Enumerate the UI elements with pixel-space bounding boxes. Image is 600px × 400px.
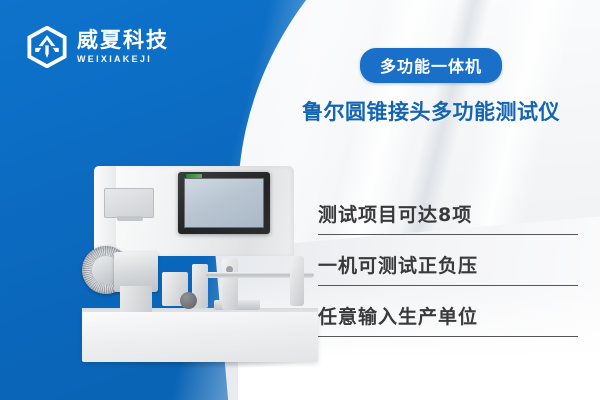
headline-badge: 多功能一体机	[360, 48, 502, 83]
access-panel-plate	[104, 188, 154, 218]
feature-list: 测试项目可达8项 一机可测试正负压 任意输入生产单位	[318, 196, 578, 337]
brand-logo: 威夏科技 WEIXIAKEJI	[26, 26, 169, 68]
instrument-base: ZZ1962-D 鲁尔圆锥接头多功能测试仪 威夏科技	[82, 312, 318, 362]
hmi-screen-surface	[184, 178, 264, 228]
headline-block: 多功能一体机 鲁尔圆锥接头多功能测试仪	[286, 48, 576, 126]
rail-bracket	[290, 256, 304, 306]
page-title: 鲁尔圆锥接头多功能测试仪	[286, 96, 576, 126]
adjust-knob-icon	[180, 292, 197, 309]
feature-item: 测试项目可达8项	[318, 196, 578, 235]
feature-item: 一机可测试正负压	[318, 247, 578, 286]
power-led-icon	[186, 174, 202, 178]
rail-bracket	[222, 258, 238, 310]
hmi-touchscreen-icon	[178, 172, 270, 234]
weixia-hexagon-logo-icon	[26, 26, 68, 68]
brand-name-en: WEIXIAKEJI	[77, 55, 169, 64]
product-image: ZZ1962-D 鲁尔圆锥接头多功能测试仪 威夏科技	[76, 160, 324, 365]
drum-support-leg	[120, 286, 152, 312]
feature-item: 任意输入生产单位	[318, 298, 578, 337]
brand-name-cn: 威夏科技	[77, 30, 169, 51]
product-banner: 威夏科技 WEIXIAKEJI 多功能一体机 鲁尔圆锥接头多功能测试仪 测试项目…	[0, 0, 600, 400]
